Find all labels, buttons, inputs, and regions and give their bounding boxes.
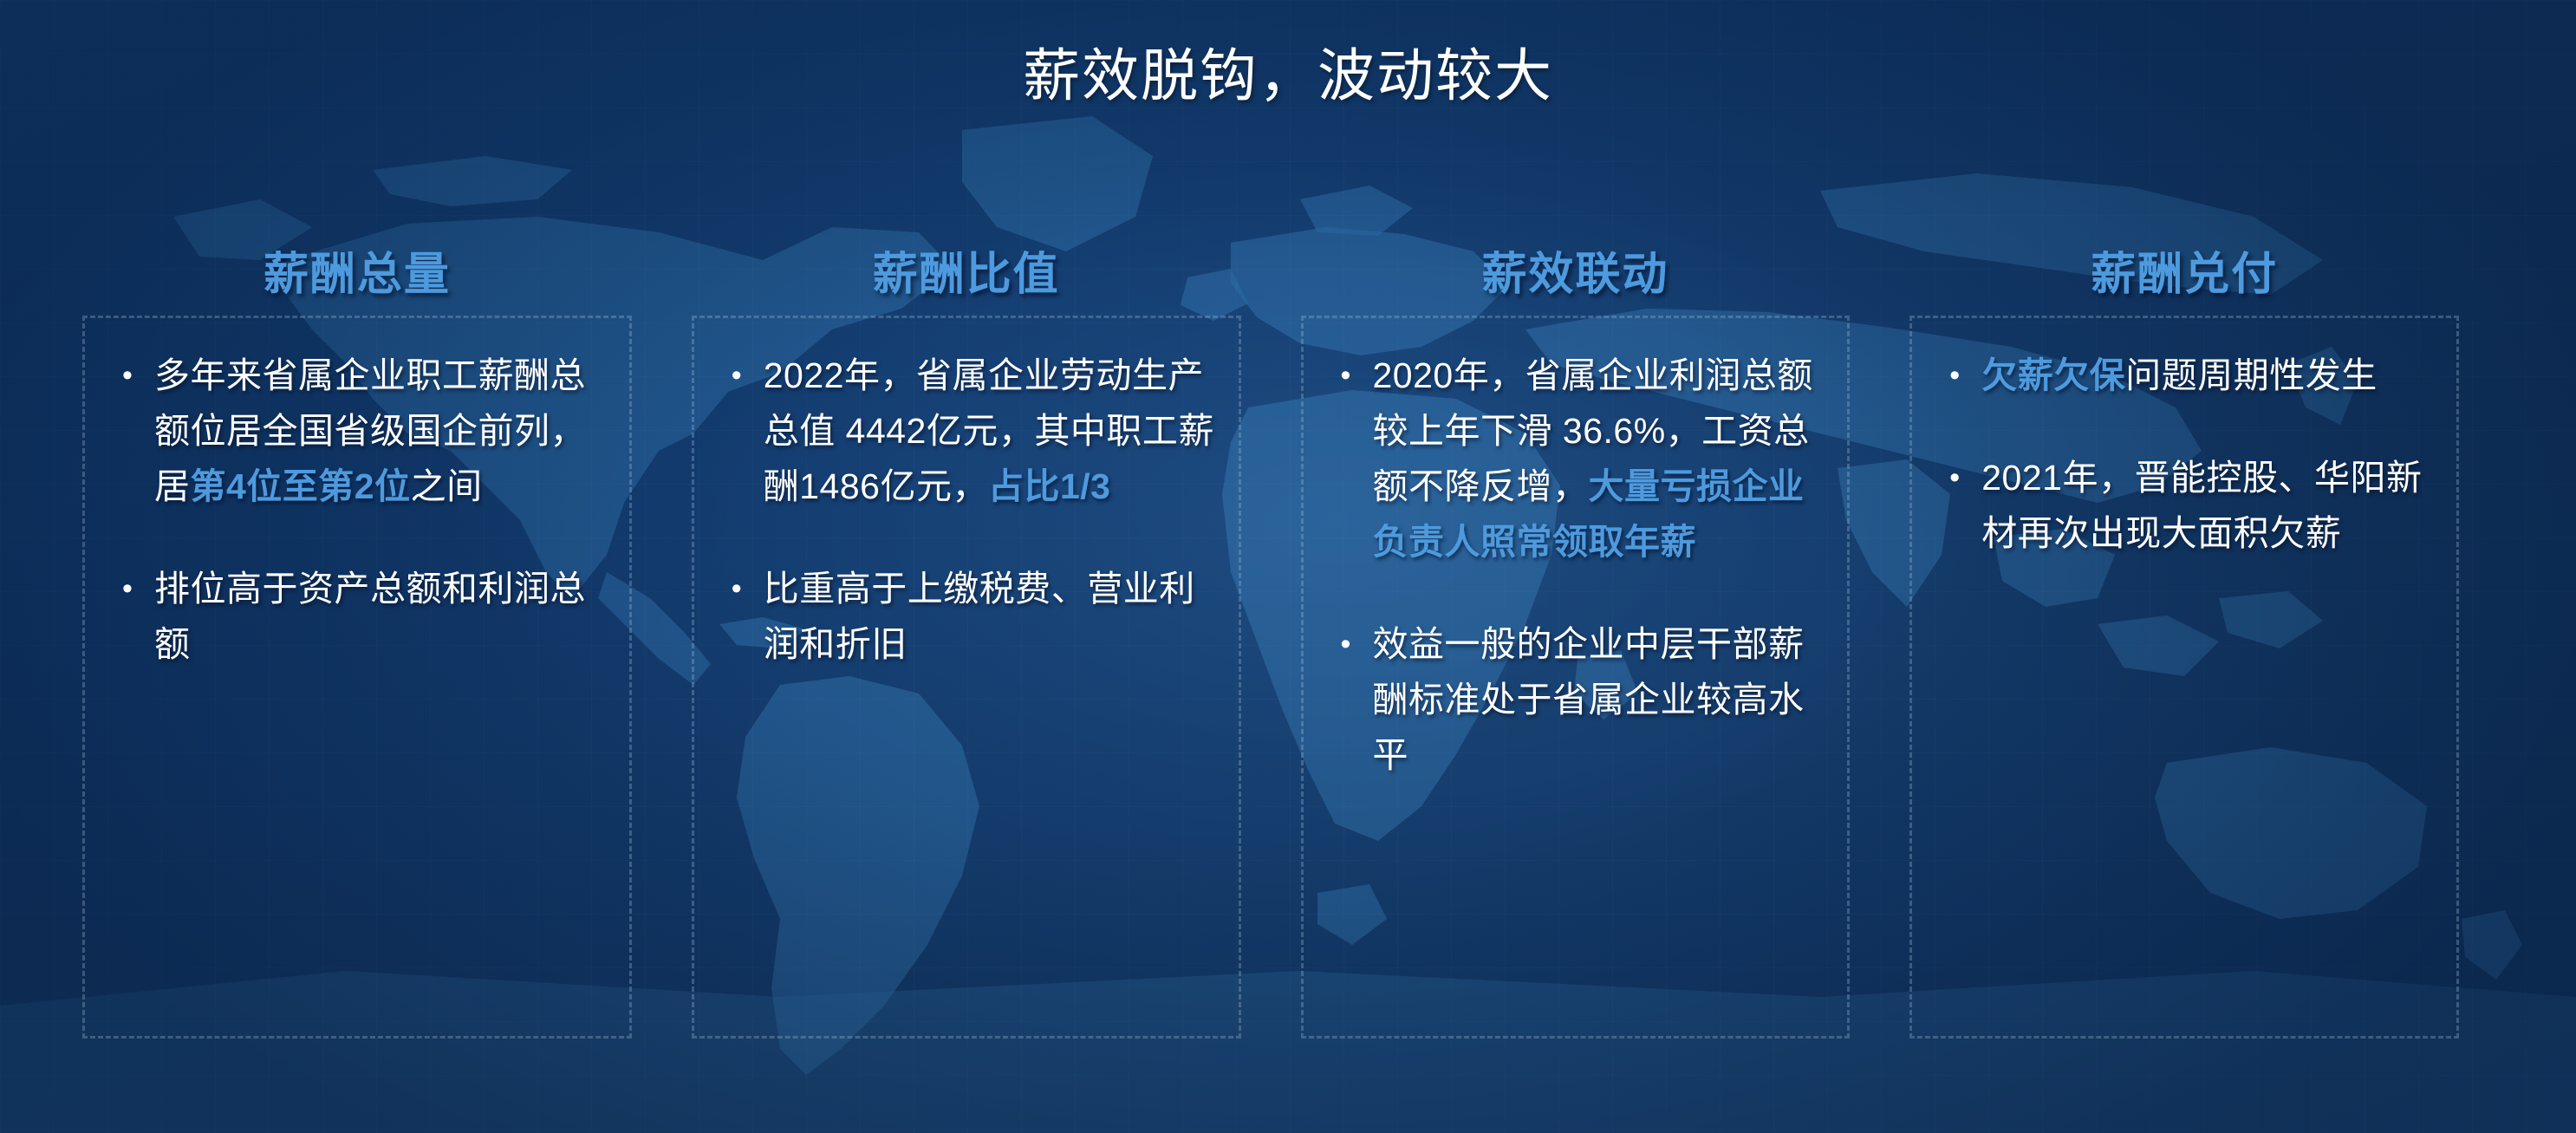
bullet-dot-icon: • [710, 348, 764, 403]
highlighted-text: 占比1/3 [988, 466, 1111, 506]
bullet-text: 2020年，省属企业利润总额较上年下滑 36.6%，工资总额不降反增，大量亏损企… [1373, 348, 1825, 570]
bullet-text: 比重高于上缴税费、营业利润和折旧 [764, 561, 1216, 672]
bullet-list-3: • 2020年，省属企业利润总额较上年下滑 36.6%，工资总额不降反增，大量亏… [1319, 348, 1825, 783]
column-box-4: • 欠薪欠保问题周期性发生 • 2021年，晋能控股、华阳新材再次出现大面积欠薪 [1909, 316, 2459, 1039]
column-heading-1: 薪酬总量 [82, 224, 632, 316]
bullet-text: 欠薪欠保问题周期性发生 [1981, 348, 2434, 403]
columns-container: 薪酬总量 • 多年来省属企业职工薪酬总额位居全国省级国企前列，居第4位至第2位之… [82, 224, 2459, 1039]
bullet-dot-icon: • [1928, 450, 1981, 505]
page-title: 薪效脱钩，波动较大 [0, 40, 2576, 112]
column-salary-ratio: 薪酬比值 • 2022年，省属企业劳动生产总值 4442亿元，其中职工薪酬148… [692, 224, 1241, 1039]
list-item: • 效益一般的企业中层干部薪酬标准处于省属企业较高水平 [1319, 616, 1825, 783]
bullet-text: 排位高于资产总额和利润总额 [154, 561, 607, 672]
bullet-dot-icon: • [1928, 348, 1981, 403]
plain-text: 效益一般的企业中层干部薪酬标准处于省属企业较高水平 [1373, 624, 1805, 775]
column-box-1: • 多年来省属企业职工薪酬总额位居全国省级国企前列，居第4位至第2位之间 • 排… [82, 316, 632, 1039]
column-heading-2: 薪酬比值 [692, 224, 1241, 316]
bullet-text: 2021年，晋能控股、华阳新材再次出现大面积欠薪 [1981, 450, 2434, 561]
highlighted-text: 欠薪欠保 [1981, 355, 2125, 395]
bullet-list-2: • 2022年，省属企业劳动生产总值 4442亿元，其中职工薪酬1486亿元，占… [710, 348, 1216, 672]
list-item: • 比重高于上缴税费、营业利润和折旧 [710, 561, 1216, 672]
column-heading-3: 薪效联动 [1301, 224, 1851, 316]
list-item: • 2020年，省属企业利润总额较上年下滑 36.6%，工资总额不降反增，大量亏… [1319, 348, 1825, 570]
column-box-3: • 2020年，省属企业利润总额较上年下滑 36.6%，工资总额不降反增，大量亏… [1301, 316, 1851, 1039]
bullet-dot-icon: • [101, 348, 154, 403]
bullet-dot-icon: • [101, 561, 154, 616]
bullet-text: 2022年，省属企业劳动生产总值 4442亿元，其中职工薪酬1486亿元，占比1… [764, 348, 1216, 514]
column-heading-4: 薪酬兑付 [1909, 224, 2459, 316]
plain-text: 之间 [411, 466, 483, 506]
plain-text: 排位高于资产总额和利润总额 [154, 569, 586, 664]
bullet-list-1: • 多年来省属企业职工薪酬总额位居全国省级国企前列，居第4位至第2位之间 • 排… [101, 348, 607, 672]
bullet-text: 效益一般的企业中层干部薪酬标准处于省属企业较高水平 [1373, 616, 1825, 783]
list-item: • 2021年，晋能控股、华阳新材再次出现大面积欠薪 [1928, 450, 2434, 561]
plain-text: 问题周期性发生 [2125, 355, 2378, 395]
column-box-2: • 2022年，省属企业劳动生产总值 4442亿元，其中职工薪酬1486亿元，占… [692, 316, 1241, 1039]
column-pay-performance-link: 薪效联动 • 2020年，省属企业利润总额较上年下滑 36.6%，工资总额不降反… [1301, 224, 1851, 1039]
column-salary-payment: 薪酬兑付 • 欠薪欠保问题周期性发生 • 2021年，晋能控股、华阳新材再次出现… [1909, 224, 2459, 1039]
bullet-text: 多年来省属企业职工薪酬总额位居全国省级国企前列，居第4位至第2位之间 [154, 348, 607, 514]
highlighted-text: 第4位至第2位 [191, 466, 411, 506]
bullet-dot-icon: • [1319, 348, 1373, 403]
list-item: • 排位高于资产总额和利润总额 [101, 561, 607, 672]
slide-canvas: 薪效脱钩，波动较大 薪酬总量 • 多年来省属企业职工薪酬总额位居全国省级国企前列… [0, 0, 2576, 1133]
plain-text: 比重高于上缴税费、营业利润和折旧 [764, 569, 1195, 664]
list-item: • 2022年，省属企业劳动生产总值 4442亿元，其中职工薪酬1486亿元，占… [710, 348, 1216, 514]
list-item: • 欠薪欠保问题周期性发生 [1928, 348, 2434, 403]
bullet-dot-icon: • [710, 561, 764, 616]
column-salary-total: 薪酬总量 • 多年来省属企业职工薪酬总额位居全国省级国企前列，居第4位至第2位之… [82, 224, 632, 1039]
bullet-list-4: • 欠薪欠保问题周期性发生 • 2021年，晋能控股、华阳新材再次出现大面积欠薪 [1928, 348, 2434, 561]
plain-text: 2021年，晋能控股、华阳新材再次出现大面积欠薪 [1981, 458, 2422, 553]
list-item: • 多年来省属企业职工薪酬总额位居全国省级国企前列，居第4位至第2位之间 [101, 348, 607, 514]
bullet-dot-icon: • [1319, 616, 1373, 672]
